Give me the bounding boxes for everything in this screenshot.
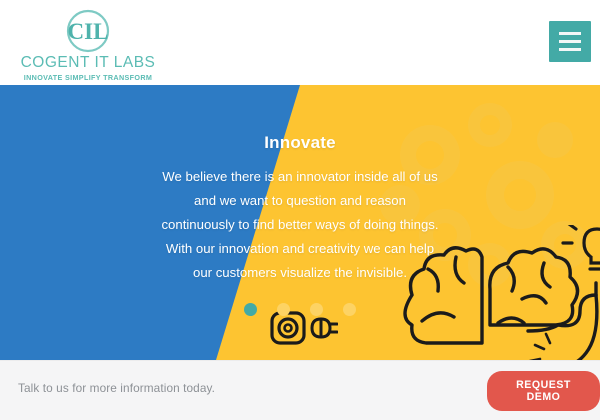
hamburger-menu-icon bbox=[559, 48, 581, 51]
hero-line-3: continuously to find better ways of doin… bbox=[161, 213, 438, 237]
logo-tagline: INNOVATE SIMPLIFY TRANSFORM bbox=[24, 74, 152, 81]
hero-title: Innovate bbox=[264, 133, 336, 153]
hamburger-menu-icon bbox=[559, 32, 581, 35]
hero-line-1: We believe there is an innovator inside … bbox=[162, 165, 437, 189]
request-demo-button[interactable]: REQUEST DEMO bbox=[487, 371, 600, 411]
hamburger-menu-icon bbox=[559, 40, 581, 43]
hero-banner: Innovate We believe there is an innovato… bbox=[0, 85, 600, 360]
hero-line-2: and we want to question and reason bbox=[194, 189, 406, 213]
hero-copy: Innovate We believe there is an innovato… bbox=[0, 85, 600, 360]
hero-line-5: our customers visualize the invisible. bbox=[193, 261, 407, 285]
hero-line-4: With our innovation and creativity we ca… bbox=[166, 237, 434, 261]
site-logo[interactable]: CIL COGENT IT LABS INNOVATE SIMPLIFY TRA… bbox=[18, 8, 158, 78]
carousel-dot-2[interactable] bbox=[277, 303, 290, 316]
page-root: CIL COGENT IT LABS INNOVATE SIMPLIFY TRA… bbox=[0, 0, 600, 420]
site-header: CIL COGENT IT LABS INNOVATE SIMPLIFY TRA… bbox=[0, 0, 600, 85]
carousel-dot-3[interactable] bbox=[310, 303, 323, 316]
carousel-dot-4[interactable] bbox=[343, 303, 356, 316]
carousel-dots bbox=[0, 303, 600, 316]
hamburger-menu-button[interactable] bbox=[549, 21, 591, 62]
svg-text:CIL: CIL bbox=[68, 19, 109, 44]
cta-message: Talk to us for more information today. bbox=[18, 381, 215, 395]
logo-wordmark: COGENT IT LABS bbox=[21, 55, 156, 71]
circle-monogram-icon: CIL bbox=[62, 8, 114, 54]
carousel-dot-1[interactable] bbox=[244, 303, 257, 316]
